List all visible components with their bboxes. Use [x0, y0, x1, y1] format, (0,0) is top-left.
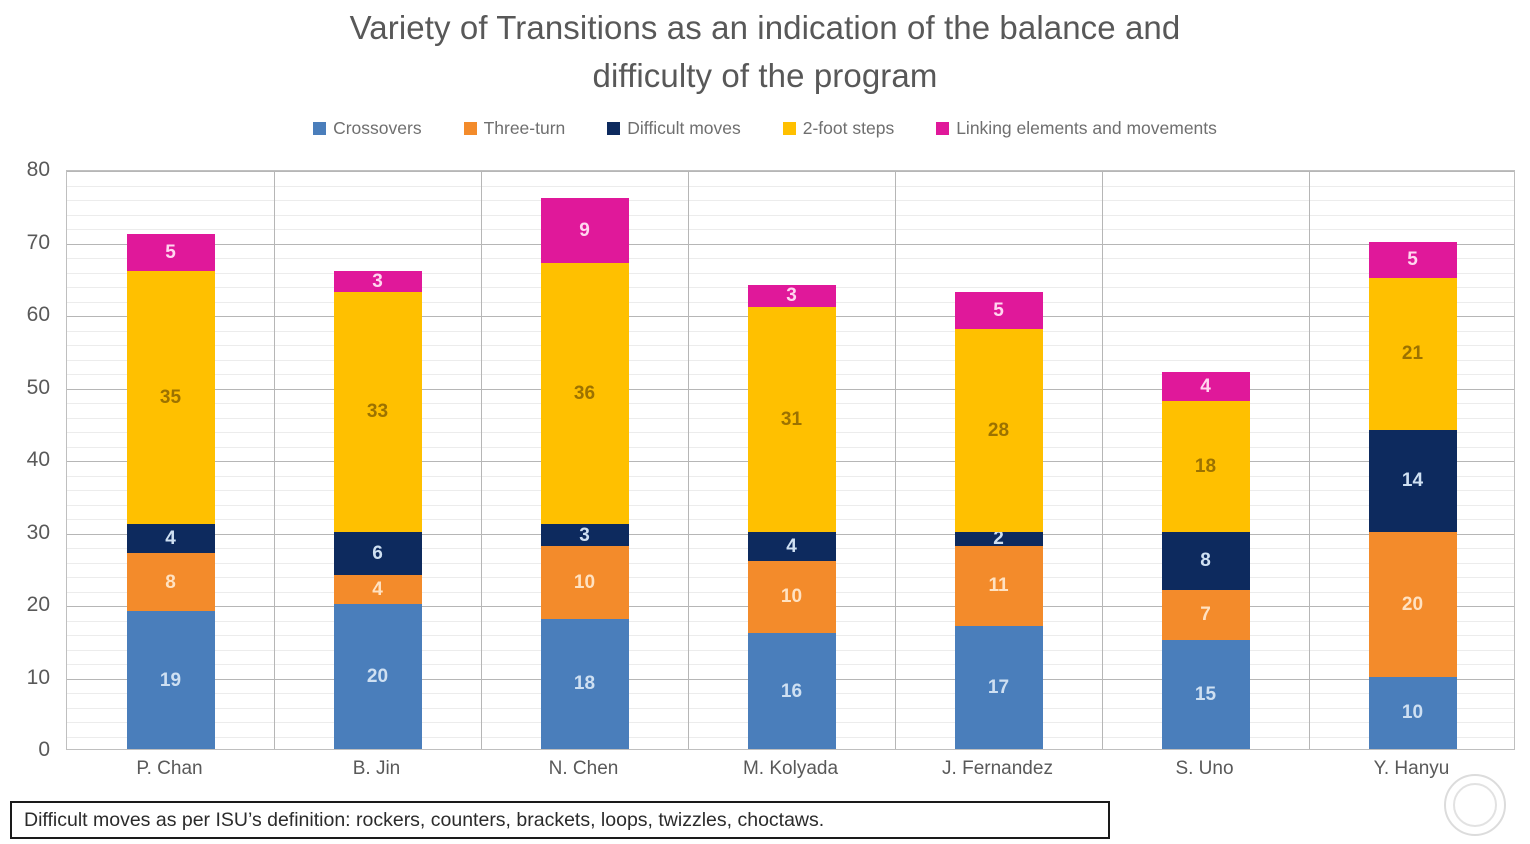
y-axis-tick-label: 10 — [27, 666, 50, 690]
bar-segment-value-label: 28 — [988, 421, 1009, 440]
bar-segment[interactable]: 20 — [1369, 532, 1457, 677]
bar-segment-value-label: 36 — [574, 384, 595, 403]
bar-segment[interactable]: 9 — [541, 198, 629, 263]
bar-segment-value-label: 4 — [1200, 377, 1211, 396]
bar-segment[interactable]: 4 — [334, 575, 422, 604]
bar-segment-value-label: 10 — [574, 573, 595, 592]
bar-segment-value-label: 20 — [367, 667, 388, 686]
bar-series-container: 1984355204633318103369161043131711228515… — [67, 171, 1514, 749]
double-ring-circle-watermark-icon — [1444, 774, 1506, 836]
legend-swatch-icon — [783, 122, 796, 135]
legend-item-2-foot-steps[interactable]: 2-foot steps — [783, 118, 894, 139]
y-axis-tick-label: 0 — [38, 738, 50, 762]
bar-segment-value-label: 5 — [993, 301, 1004, 320]
bar-segment[interactable]: 10 — [1369, 677, 1457, 750]
bar-segment[interactable]: 5 — [1369, 242, 1457, 278]
bar-segment-value-label: 4 — [786, 537, 797, 556]
bar-segment[interactable]: 5 — [127, 234, 215, 270]
bar-segment-value-label: 5 — [1407, 250, 1418, 269]
bar-segment-value-label: 4 — [372, 580, 383, 599]
bar-segment-value-label: 20 — [1402, 595, 1423, 614]
bar-segment[interactable]: 17 — [955, 626, 1043, 749]
bar-segment-value-label: 19 — [160, 671, 181, 690]
x-axis-tick-label: P. Chan — [136, 758, 202, 780]
bar-segment-value-label: 17 — [988, 678, 1009, 697]
bar-segment[interactable]: 6 — [334, 532, 422, 576]
x-axis-tick-label: M. Kolyada — [743, 758, 838, 780]
bar-segment-value-label: 8 — [165, 573, 176, 592]
legend-swatch-icon — [936, 122, 949, 135]
bar-segment-value-label: 14 — [1402, 471, 1423, 490]
bar-segment-value-label: 15 — [1195, 685, 1216, 704]
stacked-bar-b-jin[interactable]: 2046333 — [334, 271, 422, 750]
bar-segment-value-label: 10 — [781, 587, 802, 606]
y-axis-tick-label: 70 — [27, 231, 50, 255]
bar-segment-value-label: 10 — [1402, 703, 1423, 722]
bar-segment[interactable]: 3 — [334, 271, 422, 293]
footnote-text: Difficult moves as per ISU’s definition:… — [24, 809, 824, 832]
y-axis-tick-label: 40 — [27, 448, 50, 472]
bar-segment-value-label: 4 — [165, 529, 176, 548]
bar-segment[interactable]: 36 — [541, 263, 629, 524]
bar-segment[interactable]: 33 — [334, 292, 422, 531]
bar-segment[interactable]: 10 — [541, 546, 629, 619]
y-axis-tick-label: 30 — [27, 521, 50, 545]
bar-segment[interactable]: 19 — [127, 611, 215, 749]
legend-item-three-turn[interactable]: Three-turn — [464, 118, 566, 139]
bar-segment-value-label: 3 — [372, 272, 383, 291]
legend-label: Difficult moves — [627, 118, 740, 139]
legend-swatch-icon — [313, 122, 326, 135]
bar-segment[interactable]: 7 — [1162, 590, 1250, 641]
bar-segment-value-label: 33 — [367, 402, 388, 421]
bar-segment-value-label: 18 — [574, 674, 595, 693]
bar-segment[interactable]: 10 — [748, 561, 836, 634]
legend-swatch-icon — [607, 122, 620, 135]
bar-segment[interactable]: 18 — [541, 619, 629, 750]
bar-segment-value-label: 18 — [1195, 457, 1216, 476]
bar-segment[interactable]: 15 — [1162, 640, 1250, 749]
bar-segment-value-label: 6 — [372, 544, 383, 563]
x-axis-tick-label: S. Uno — [1175, 758, 1233, 780]
chart-legend: CrossoversThree-turnDifficult moves2-foo… — [0, 118, 1530, 139]
bar-segment[interactable]: 11 — [955, 546, 1043, 626]
y-axis-tick-label: 50 — [27, 376, 50, 400]
stacked-bar-j-fernandez[interactable]: 17112285 — [955, 292, 1043, 749]
x-axis-tick-label: N. Chen — [549, 758, 619, 780]
legend-swatch-icon — [464, 122, 477, 135]
legend-label: Linking elements and movements — [956, 118, 1217, 139]
legend-label: Crossovers — [333, 118, 422, 139]
stacked-bar-s-uno[interactable]: 1578184 — [1162, 372, 1250, 749]
bar-segment-value-label: 3 — [786, 286, 797, 305]
bar-segment[interactable]: 21 — [1369, 278, 1457, 430]
plot-area: 1984355204633318103369161043131711228515… — [66, 170, 1515, 750]
bar-segment-value-label: 35 — [160, 388, 181, 407]
footnote-box: Difficult moves as per ISU’s definition:… — [10, 801, 1110, 839]
bar-segment[interactable]: 8 — [127, 553, 215, 611]
bar-segment[interactable]: 28 — [955, 329, 1043, 532]
bar-segment[interactable]: 20 — [334, 604, 422, 749]
stacked-bar-m-kolyada[interactable]: 16104313 — [748, 285, 836, 749]
bar-segment[interactable]: 4 — [748, 532, 836, 561]
bar-segment[interactable]: 5 — [955, 292, 1043, 328]
bar-segment-value-label: 21 — [1402, 344, 1423, 363]
x-axis-tick-label: B. Jin — [353, 758, 401, 780]
y-axis: 01020304050607080 — [0, 160, 60, 740]
page-title-line-2: difficulty of the program — [110, 52, 1420, 100]
bar-segment[interactable]: 16 — [748, 633, 836, 749]
y-axis-tick-label: 60 — [27, 303, 50, 327]
legend-label: Three-turn — [484, 118, 566, 139]
chart-plot-wrapper: 01020304050607080 1984355204633318103369… — [0, 160, 1530, 800]
x-axis-tick-label: J. Fernandez — [942, 758, 1053, 780]
stacked-bar-p-chan[interactable]: 1984355 — [127, 234, 215, 749]
bar-segment-value-label: 11 — [988, 576, 1008, 595]
y-axis-tick-label: 20 — [27, 593, 50, 617]
y-axis-tick-label: 80 — [27, 158, 50, 182]
bar-segment[interactable]: 2 — [955, 532, 1043, 547]
x-axis: P. ChanB. JinN. ChenM. KolyadaJ. Fernand… — [66, 758, 1515, 798]
bar-segment[interactable]: 14 — [1369, 430, 1457, 532]
page-title: Variety of Transitions as an indication … — [110, 4, 1420, 100]
page-title-line-1: Variety of Transitions as an indication … — [110, 4, 1420, 52]
bar-segment-value-label: 5 — [165, 243, 176, 262]
bar-segment[interactable]: 8 — [1162, 532, 1250, 590]
bar-segment-value-label: 16 — [781, 682, 802, 701]
legend-label: 2-foot steps — [803, 118, 894, 139]
legend-item-crossovers[interactable]: Crossovers — [313, 118, 422, 139]
legend-item-linking-elements-and-movements[interactable]: Linking elements and movements — [936, 118, 1217, 139]
x-axis-tick-label: Y. Hanyu — [1374, 758, 1450, 780]
bar-segment[interactable]: 4 — [127, 524, 215, 553]
bar-segment[interactable]: 18 — [1162, 401, 1250, 532]
bar-segment-value-label: 9 — [579, 221, 590, 240]
bar-segment[interactable]: 35 — [127, 271, 215, 525]
bar-segment-value-label: 31 — [781, 410, 802, 429]
bar-segment-value-label: 3 — [579, 526, 590, 545]
stacked-bar-y-hanyu[interactable]: 102014215 — [1369, 242, 1457, 750]
bar-segment[interactable]: 31 — [748, 307, 836, 532]
bar-segment[interactable]: 4 — [1162, 372, 1250, 401]
bar-segment[interactable]: 3 — [541, 524, 629, 546]
stacked-bar-n-chen[interactable]: 18103369 — [541, 198, 629, 749]
bar-segment-value-label: 2 — [993, 532, 1004, 547]
bar-segment-value-label: 8 — [1200, 551, 1211, 570]
bar-segment[interactable]: 3 — [748, 285, 836, 307]
legend-item-difficult-moves[interactable]: Difficult moves — [607, 118, 740, 139]
bar-segment-value-label: 7 — [1200, 605, 1211, 624]
